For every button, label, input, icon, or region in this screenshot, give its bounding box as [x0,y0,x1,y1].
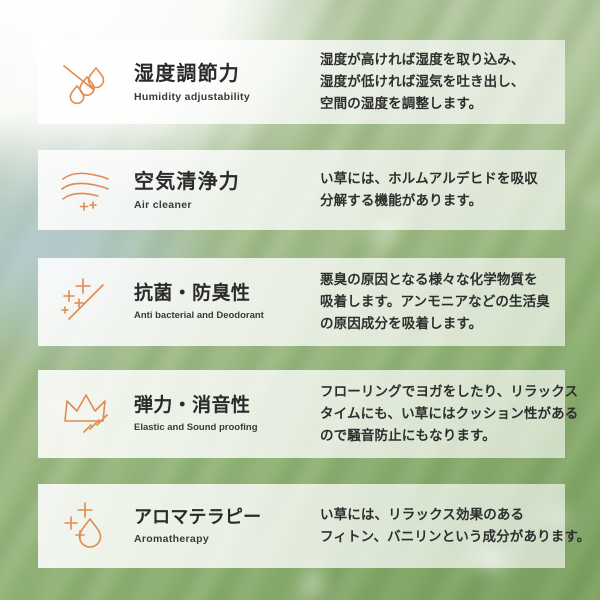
feature-description-elastic: フローリングでヨガをしたり、リラックス タイムにも、い草にはクッション性がある … [320,381,586,447]
feature-title-ja: 抗菌・防臭性 [134,283,314,306]
feature-title-en: Humidity adjustability [134,91,314,103]
feature-panel-humidity: 湿度調節力 Humidity adjustability 湿度が高ければ湿度を取… [38,40,565,124]
feature-description-humidity: 湿度が高ければ湿度を取り込み、 湿度が低ければ湿気を吐き出し、 空間の湿度を調整… [320,49,565,115]
feature-description-air-cleaner: い草には、ホルムアルデヒドを吸収 分解する機能があります。 [320,168,565,212]
desc-line: の原因成分を吸着します。 [320,313,557,335]
desc-line: 吸着します。アンモニアなどの生活臭 [320,291,557,313]
feature-titles-air-cleaner: 空気清浄力 Air cleaner [134,170,320,211]
feature-list-page: 湿度調節力 Humidity adjustability 湿度が高ければ湿度を取… [0,0,600,600]
feature-description-anti-bacterial: 悪臭の原因となる様々な化学物質を 吸着します。アンモニアなどの生活臭 の原因成分… [320,269,565,335]
air-waves-icon-svg [57,165,115,215]
feature-panel-aromatherapy: アロマテラピー Aromatherapy い草には、リラックス効果のある フィト… [38,484,565,568]
aroma-drop-icon-svg [59,499,113,553]
feature-title-en: Aromatherapy [134,533,314,545]
desc-line: 湿度が低ければ湿気を吐き出し、 [320,71,557,93]
desc-line: い草には、リラックス効果のある [320,504,590,526]
sparkle-shine-icon [38,275,134,329]
feature-panel-list: 湿度調節力 Humidity adjustability 湿度が高ければ湿度を取… [38,0,565,600]
humidity-droplets-icon [38,56,134,108]
feature-titles-aromatherapy: アロマテラピー Aromatherapy [134,507,320,546]
air-waves-icon [38,165,134,215]
desc-line: タイムにも、い草にはクッション性がある [320,403,578,425]
feature-title-en: Elastic and Sound proofing [134,422,314,433]
feature-titles-anti-bacterial: 抗菌・防臭性 Anti bacterial and Deodorant [134,283,320,322]
desc-line: フローリングでヨガをしたり、リラックス [320,381,578,403]
desc-line: 湿度が高ければ湿度を取り込み、 [320,49,557,71]
aroma-drop-icon [38,499,134,553]
desc-line: フィトン、バニリンという成分があります。 [320,526,590,548]
feature-panel-anti-bacterial: 抗菌・防臭性 Anti bacterial and Deodorant 悪臭の原… [38,258,565,346]
feature-title-ja: 湿度調節力 [134,62,314,86]
feature-description-aromatherapy: い草には、リラックス効果のある フィトン、バニリンという成分があります。 [320,504,598,548]
bounce-crown-icon [38,387,134,441]
feature-panel-elastic: 弾力・消音性 Elastic and Sound proofing フローリング… [38,370,565,458]
humidity-droplets-icon-svg [58,56,114,108]
desc-line: 悪臭の原因となる様々な化学物質を [320,269,557,291]
bounce-crown-icon-svg [57,387,115,441]
feature-title-en: Air cleaner [134,199,314,211]
feature-titles-elastic: 弾力・消音性 Elastic and Sound proofing [134,395,320,434]
feature-title-ja: アロマテラピー [134,507,314,529]
desc-line: 分解する機能があります。 [320,190,557,212]
feature-panel-air-cleaner: 空気清浄力 Air cleaner い草には、ホルムアルデヒドを吸収 分解する機… [38,150,565,230]
desc-line: い草には、ホルムアルデヒドを吸収 [320,168,557,190]
desc-line: 空間の湿度を調整します。 [320,93,557,115]
feature-title-ja: 空気清浄力 [134,170,314,194]
feature-title-ja: 弾力・消音性 [134,395,314,418]
feature-titles-humidity: 湿度調節力 Humidity adjustability [134,62,320,103]
feature-title-en: Anti bacterial and Deodorant [134,310,314,321]
sparkle-shine-icon-svg [57,275,115,329]
desc-line: ので騒音防止にもなります。 [320,425,578,447]
